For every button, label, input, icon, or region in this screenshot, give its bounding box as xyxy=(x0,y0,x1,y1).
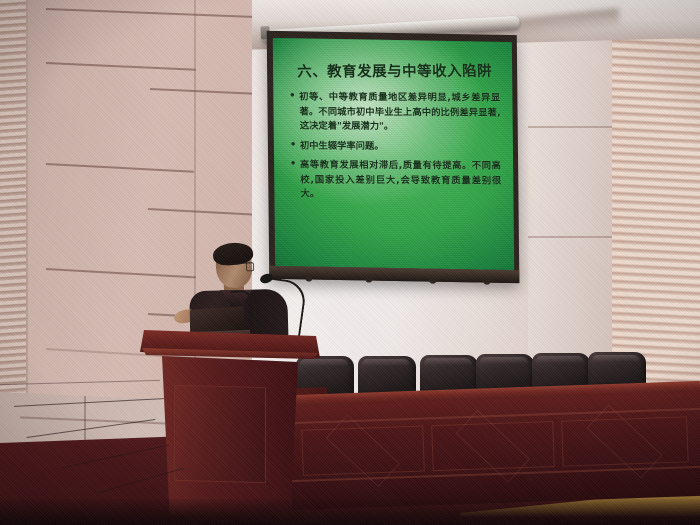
slide-bullet: 初中生辍学率问题。 xyxy=(290,139,501,155)
slide-bullet-list: 初等、中等教育质量地区差异明显,城乡差异显著。不同城市初中毕业生上高中的比例差异… xyxy=(289,89,501,204)
wall-seam xyxy=(528,236,614,238)
wall-seam xyxy=(46,163,194,173)
screen-tab xyxy=(429,279,436,284)
lecture-hall-photo: 六、教育发展与中等收入陷阱 初等、中等教育质量地区差异明显,城乡差异显著。不同城… xyxy=(0,0,700,525)
slide-content: 六、教育发展与中等收入陷阱 初等、中等教育质量地区差异明显,城乡差异显著。不同城… xyxy=(273,38,514,270)
slide-title: 六、教育发展与中等收入陷阱 xyxy=(289,60,501,82)
screen-tab xyxy=(365,277,372,282)
wooden-podium xyxy=(140,330,320,525)
table-carved-panel xyxy=(431,421,555,471)
table-carved-panel xyxy=(561,416,689,466)
projection-screen: 六、教育发展与中等收入陷阱 初等、中等教育质量地区差异明显,城乡差异显著。不同城… xyxy=(261,22,520,287)
wall-seam xyxy=(150,88,260,95)
floor-front-shadow xyxy=(0,499,700,525)
glasses-icon xyxy=(221,262,252,271)
wall-seam xyxy=(46,8,256,18)
wall-seam xyxy=(46,62,196,71)
conference-table xyxy=(288,381,700,513)
table-front-panel xyxy=(288,392,700,510)
podium-front-panel xyxy=(174,385,266,483)
screen-frame: 六、教育发展与中等收入陷阱 初等、中等教育质量地区差异明显,城乡差异显著。不同城… xyxy=(267,31,520,283)
wall-seam xyxy=(528,126,614,128)
screen-tab xyxy=(305,276,312,281)
wall-seam xyxy=(148,208,260,216)
wall-seam xyxy=(46,268,196,278)
slide-bullet: 初等、中等教育质量地区差异明显,城乡差异显著。不同城市初中毕业生上高中的比例差异… xyxy=(289,90,501,135)
screen-tab xyxy=(483,280,490,285)
slide-bullet: 高等教育发展相对滞后,质量有待提高。不同高校,国家投入差别巨大,会导致教育质量差… xyxy=(290,158,502,203)
screen-surface: 六、教育发展与中等收入陷阱 初等、中等教育质量地区差异明显,城乡差异显著。不同城… xyxy=(273,38,514,270)
